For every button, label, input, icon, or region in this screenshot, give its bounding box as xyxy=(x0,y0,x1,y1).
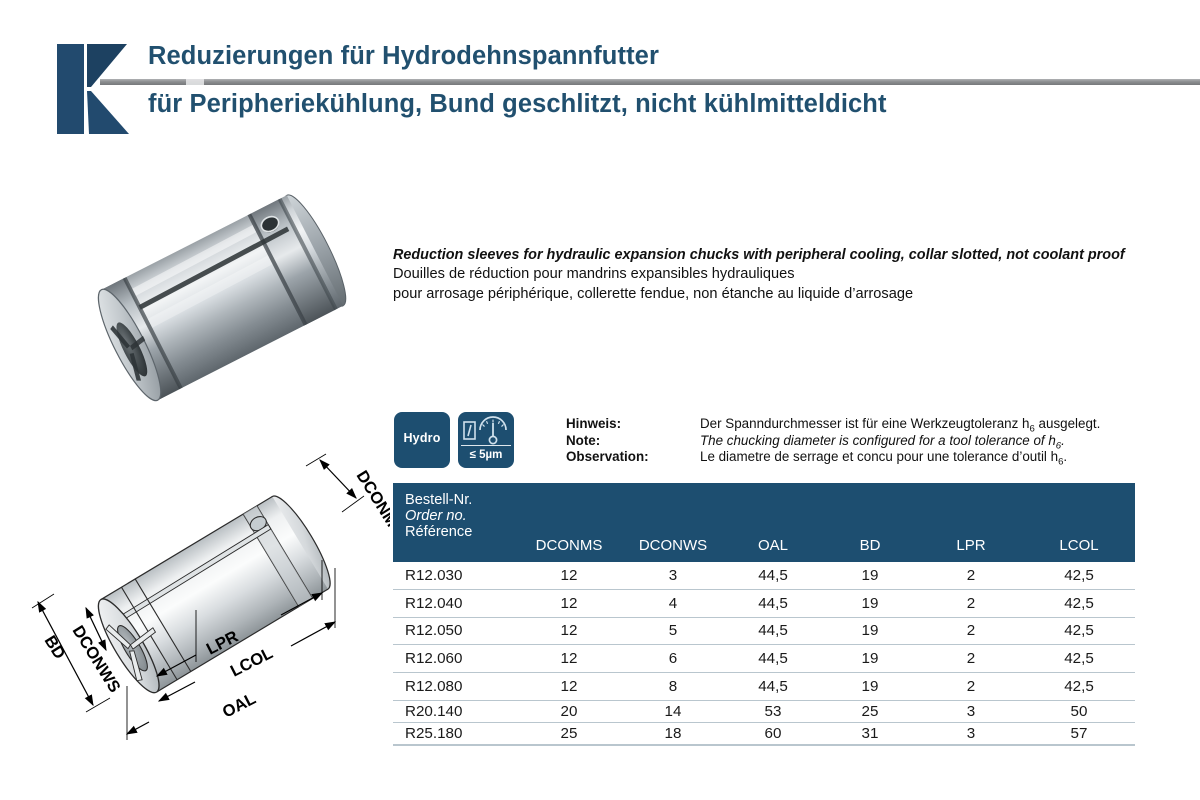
table-row[interactable]: R25.180 25 18 60 31 3 57 xyxy=(393,722,1135,744)
cell-lpr: 2 xyxy=(919,589,1023,617)
runout-gauge-icon xyxy=(463,415,509,447)
cell-order-no: R20.140 xyxy=(393,700,517,722)
table-header-row: Bestell-Nr. Order no. Référence DCONMS D… xyxy=(393,483,1135,562)
note-text-fr: Le diametre de serrage et concu pour une… xyxy=(700,449,1067,468)
cell-bd: 19 xyxy=(821,673,919,701)
cell-oal: 53 xyxy=(725,700,821,722)
page-header: Reduzierungen für Hydrodehnspannfutter f… xyxy=(0,0,1200,145)
cell-lcol: 42,5 xyxy=(1023,562,1135,589)
order-header-en: Order no. xyxy=(405,508,517,524)
header-rule-highlight xyxy=(186,79,204,85)
runout-badge-divider xyxy=(461,445,511,446)
cell-bd: 25 xyxy=(821,700,919,722)
cell-order-no: R12.050 xyxy=(393,617,517,645)
table-header-oal: OAL xyxy=(725,483,821,562)
table-header-lpr: LPR xyxy=(919,483,1023,562)
table-header-order-no: Bestell-Nr. Order no. Référence xyxy=(393,483,517,562)
table-row[interactable]: R12.060 12 6 44,5 19 2 42,5 xyxy=(393,645,1135,673)
description-french-line1: Douilles de réduction pour mandrins expa… xyxy=(393,265,1153,285)
cell-dconms: 12 xyxy=(517,562,621,589)
cell-dconms: 20 xyxy=(517,700,621,722)
cell-bd: 19 xyxy=(821,589,919,617)
cell-lcol: 57 xyxy=(1023,722,1135,744)
hydro-badge-label: Hydro xyxy=(394,431,450,445)
company-logo-k xyxy=(57,44,133,134)
cell-lpr: 2 xyxy=(919,617,1023,645)
cell-bd: 19 xyxy=(821,617,919,645)
cell-lpr: 2 xyxy=(919,562,1023,589)
table-row[interactable]: R12.050 12 5 44,5 19 2 42,5 xyxy=(393,617,1135,645)
cell-dconws: 6 xyxy=(621,645,725,673)
cell-lcol: 42,5 xyxy=(1023,645,1135,673)
page-title: Reduzierungen für Hydrodehnspannfutter xyxy=(148,42,659,71)
cell-oal: 44,5 xyxy=(725,562,821,589)
dimension-label-lcol: LCOL xyxy=(228,644,276,680)
cell-dconws: 4 xyxy=(621,589,725,617)
cell-order-no: R12.060 xyxy=(393,645,517,673)
dimension-label-oal: OAL xyxy=(220,690,259,722)
table-header-lcol: LCOL xyxy=(1023,483,1135,562)
cell-bd: 19 xyxy=(821,645,919,673)
table-row[interactable]: R20.140 20 14 53 25 3 50 xyxy=(393,700,1135,722)
page-subtitle: für Peripheriekühlung, Bund geschlitzt, … xyxy=(148,90,887,119)
cell-lcol: 42,5 xyxy=(1023,673,1135,701)
cell-lcol: 42,5 xyxy=(1023,617,1135,645)
cell-oal: 44,5 xyxy=(725,673,821,701)
order-header-fr: Référence xyxy=(405,524,517,540)
order-header-de: Bestell-Nr. xyxy=(405,492,517,508)
cell-dconws: 18 xyxy=(621,722,725,744)
hydro-badge: Hydro xyxy=(394,412,450,468)
description-english: Reduction sleeves for hydraulic expansio… xyxy=(393,246,1153,265)
cell-dconws: 14 xyxy=(621,700,725,722)
cell-dconws: 3 xyxy=(621,562,725,589)
cell-dconms: 12 xyxy=(517,673,621,701)
cell-lcol: 42,5 xyxy=(1023,589,1135,617)
cell-lpr: 3 xyxy=(919,700,1023,722)
cell-oal: 44,5 xyxy=(725,645,821,673)
cell-dconms: 12 xyxy=(517,589,621,617)
table-row[interactable]: R12.080 12 8 44,5 19 2 42,5 xyxy=(393,673,1135,701)
dimension-label-bd: BD xyxy=(41,633,69,663)
table-bottom-rule xyxy=(393,745,1135,746)
table-header-dconws: DCONWS xyxy=(621,483,725,562)
cell-oal: 60 xyxy=(725,722,821,744)
product-description: Reduction sleeves for hydraulic expansio… xyxy=(393,246,1153,304)
technical-dimension-drawing: DCONMS DCONWS BD LPR LCOL OAL xyxy=(20,450,390,770)
table-row[interactable]: R12.030 12 3 44,5 19 2 42,5 xyxy=(393,562,1135,589)
cell-dconms: 12 xyxy=(517,617,621,645)
cell-dconms: 12 xyxy=(517,645,621,673)
runout-badge: ≤ 5µm xyxy=(458,412,514,468)
cell-oal: 44,5 xyxy=(725,589,821,617)
cell-lpr: 3 xyxy=(919,722,1023,744)
cell-lpr: 2 xyxy=(919,645,1023,673)
cell-dconms: 25 xyxy=(517,722,621,744)
cell-lpr: 2 xyxy=(919,673,1023,701)
cell-dconws: 8 xyxy=(621,673,725,701)
description-french-line2: pour arrosage périphérique, collerette f… xyxy=(393,285,1153,305)
cell-order-no: R25.180 xyxy=(393,722,517,744)
cell-order-no: R12.040 xyxy=(393,589,517,617)
table-header-bd: BD xyxy=(821,483,919,562)
table-header-dconms: DCONMS xyxy=(517,483,621,562)
note-label-en: Note: xyxy=(566,433,600,448)
header-divider-rule xyxy=(100,79,1200,85)
cell-oal: 44,5 xyxy=(725,617,821,645)
cell-order-no: R12.030 xyxy=(393,562,517,589)
cell-bd: 19 xyxy=(821,562,919,589)
dimension-label-dconms: DCONMS xyxy=(353,468,390,540)
cell-order-no: R12.080 xyxy=(393,673,517,701)
specifications-table: Bestell-Nr. Order no. Référence DCONMS D… xyxy=(393,483,1135,745)
note-label-de: Hinweis: xyxy=(566,416,621,431)
cell-bd: 31 xyxy=(821,722,919,744)
product-photo-reduction-sleeve xyxy=(28,170,388,440)
note-label-fr: Observation: xyxy=(566,449,649,464)
table-row[interactable]: R12.040 12 4 44,5 19 2 42,5 xyxy=(393,589,1135,617)
cell-dconws: 5 xyxy=(621,617,725,645)
cell-lcol: 50 xyxy=(1023,700,1135,722)
runout-badge-label: ≤ 5µm xyxy=(458,449,514,461)
